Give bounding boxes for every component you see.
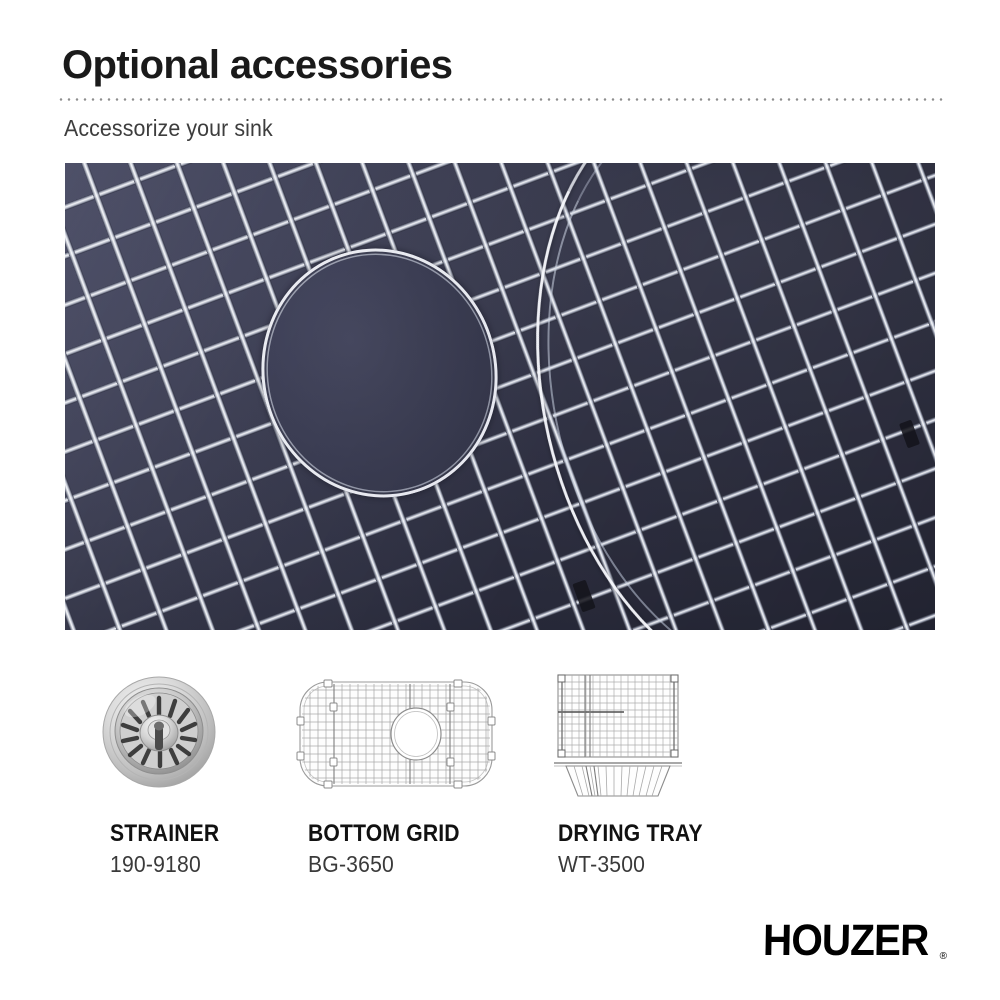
- accessory-thumb-strainer[interactable]: [84, 662, 234, 802]
- accessory-label-bottom-grid: BOTTOM GRID BG-3650: [308, 820, 480, 878]
- accessory-label-drying-tray: DRYING TRAY WT-3500: [558, 820, 722, 878]
- page-root: Optional accessories Accessorize your si…: [0, 0, 1000, 1000]
- page-title: Optional accessories: [62, 42, 452, 88]
- registered-trademark-icon: ®: [940, 951, 947, 962]
- accessory-label-strainer: STRAINER 190-9180: [110, 820, 234, 878]
- accessory-name: DRYING TRAY: [558, 820, 703, 847]
- dotted-divider: [57, 98, 945, 101]
- accessory-thumb-bottom-grid[interactable]: [288, 662, 504, 802]
- accessory-sku: WT-3500: [558, 851, 709, 878]
- page-subtitle: Accessorize your sink: [64, 114, 273, 142]
- brand-logo: HOUZER ®: [763, 918, 945, 964]
- hero-specular-sheen: [65, 163, 935, 630]
- hero-photo: [65, 163, 935, 630]
- accessory-thumbnail-row: [0, 662, 1000, 802]
- accessory-thumb-drying-tray[interactable]: [538, 662, 698, 802]
- brand-wordmark: HOUZER: [763, 918, 931, 964]
- accessory-sku: 190-9180: [110, 851, 224, 878]
- drying-tray-icon: [538, 662, 698, 802]
- bottom-grid-icon: [288, 662, 504, 802]
- accessory-name: BOTTOM GRID: [308, 820, 460, 847]
- sink-strainer-icon: [92, 670, 226, 794]
- accessory-sku: BG-3650: [308, 851, 467, 878]
- accessory-name: STRAINER: [110, 820, 219, 847]
